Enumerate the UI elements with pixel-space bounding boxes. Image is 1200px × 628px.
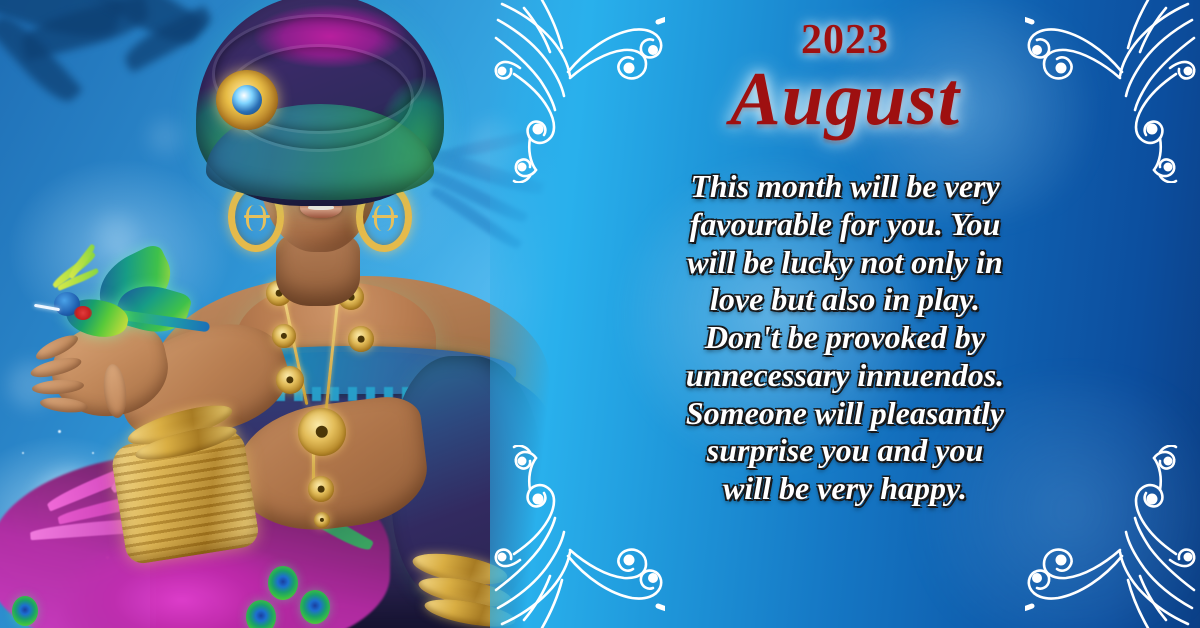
necklace-disc xyxy=(308,476,334,502)
forecast-line: love but also in play. xyxy=(552,281,1138,319)
peacock-eye xyxy=(246,600,276,628)
forecast-line: will be lucky not only in xyxy=(552,244,1138,282)
forecast-line: will be very happy. xyxy=(552,470,1138,508)
peacock-eye xyxy=(300,590,330,624)
forecast-line: surprise you and you xyxy=(552,432,1138,470)
forecast-line: Someone will pleasantly xyxy=(552,395,1138,433)
horoscope-card: 2023 August This month will be very favo… xyxy=(0,0,1200,628)
forecast-line: unnecessary innuendos. xyxy=(552,357,1138,395)
earring-ornament xyxy=(246,205,266,231)
forecast-text: This month will be very favourable for y… xyxy=(552,168,1138,508)
month-heading: August xyxy=(490,56,1200,143)
peacock-eye xyxy=(268,566,298,600)
necklace-disc xyxy=(314,512,330,528)
necklace-disc xyxy=(298,408,346,456)
peacock-eye xyxy=(12,596,38,626)
forecast-line: Don't be provoked by xyxy=(552,319,1138,357)
jeweled-brooch xyxy=(216,70,278,130)
forecast-line: This month will be very xyxy=(552,168,1138,206)
necklace-disc xyxy=(348,326,374,352)
earring-ornament xyxy=(374,205,394,231)
necklace-disc xyxy=(276,366,304,394)
text-panel: 2023 August This month will be very favo… xyxy=(490,0,1200,628)
forecast-line: favourable for you. You xyxy=(552,206,1138,244)
necklace-disc xyxy=(272,324,296,348)
hummingbird-throat xyxy=(74,306,92,320)
